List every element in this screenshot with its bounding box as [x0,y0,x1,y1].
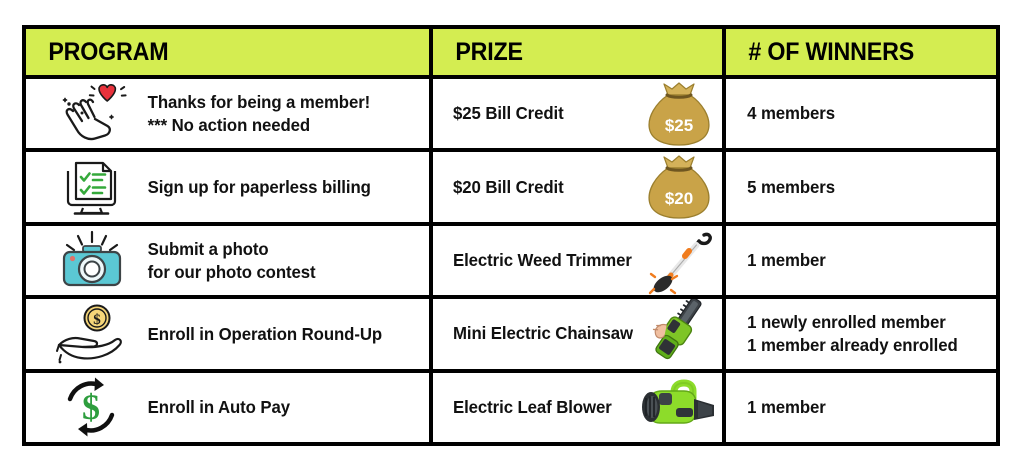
program-label-line2: for our photo contest [148,261,316,283]
program-label-line1: Enroll in Auto Pay [148,397,290,417]
winners-label: 1 member [726,396,826,419]
program-cell: $ Enroll in Operation Round-Up [26,299,433,368]
program-cell: Thanks for being a member! *** No action… [26,79,433,148]
program-label: Submit a photo for our photo contest [140,238,316,283]
winners-label-line1: 1 newly enrolled member [747,312,946,332]
program-cell: Sign up for paperless billing [26,152,433,221]
winners-label-line1: 5 members [747,177,835,197]
winners-label-line1: 1 member [747,397,826,417]
header-cell-winners: # OF WINNERS [726,29,996,75]
prize-cell: $20 Bill Credit $20 [433,152,726,221]
winners-cell: 4 members [726,79,996,148]
paperless-billing-monitor-icon [44,156,140,218]
header-label-program: PROGRAM [26,40,168,65]
program-label: Enroll in Auto Pay [140,396,290,418]
table-row: $ Enroll in Operation Round-Up Mini Elec… [26,299,996,372]
table-header-row: PROGRAM PRIZE # OF WINNERS [26,29,996,79]
program-label-line2: *** No action needed [148,114,370,136]
money-bag-icon: $25 [642,79,716,148]
header-label-prize: PRIZE [433,40,523,65]
auto-pay-dollar-refresh-icon: $ [44,376,140,438]
prize-label: $25 Bill Credit [453,103,564,124]
winners-label: 4 members [726,102,835,125]
prize-cell: Electric Weed Trimmer [433,226,726,295]
header-cell-program: PROGRAM [26,29,433,75]
program-label-line1: Submit a photo [148,239,269,259]
leaf-blower-icon [630,373,716,442]
clapping-hands-heart-icon [44,83,140,145]
table-row: $ Enroll in Auto Pay Electric Leaf Blowe… [26,373,996,442]
svg-text:$: $ [93,312,101,328]
program-label: Enroll in Operation Round-Up [140,323,382,345]
winners-cell: 5 members [726,152,996,221]
hand-with-coin-icon: $ [44,303,140,365]
prize-cell: $25 Bill Credit $25 [433,79,726,148]
prize-label: Mini Electric Chainsaw [453,323,633,344]
program-cell: $ Enroll in Auto Pay [26,373,433,442]
program-label: Sign up for paperless billing [140,176,371,198]
prize-cell: Mini Electric Chainsaw [433,299,726,368]
winners-label: 1 newly enrolled member 1 member already… [726,311,958,357]
program-label-line1: Thanks for being a member! [148,92,370,112]
winners-label-line2: 1 member already enrolled [747,334,958,357]
camera-icon [44,230,140,292]
winners-label-line1: 4 members [747,103,835,123]
program-label-line1: Enroll in Operation Round-Up [148,324,382,344]
program-label-line1: Sign up for paperless billing [148,177,371,197]
winners-label: 5 members [726,176,835,199]
prize-label: Electric Leaf Blower [453,397,612,418]
svg-text:$: $ [82,387,100,427]
weed-trimmer-icon [644,226,716,295]
header-cell-prize: PRIZE [433,29,726,75]
prize-program-table: PROGRAM PRIZE # OF WINNERS [22,25,1000,446]
winners-cell: 1 member [726,226,996,295]
table-row: Sign up for paperless billing $20 Bill C… [26,152,996,225]
winners-cell: 1 member [726,373,996,442]
winners-label: 1 member [726,249,826,272]
money-bag-icon: $20 [642,152,716,221]
svg-text:$25: $25 [665,116,693,135]
table-row: Thanks for being a member! *** No action… [26,79,996,152]
header-label-winners: # OF WINNERS [726,40,914,65]
program-cell: Submit a photo for our photo contest [26,226,433,295]
svg-text:$20: $20 [665,189,693,208]
prize-cell: Electric Leaf Blower [433,373,726,442]
table-row: Submit a photo for our photo contest Ele… [26,226,996,299]
program-label: Thanks for being a member! *** No action… [140,91,370,136]
prize-label: $20 Bill Credit [453,177,564,198]
mini-chainsaw-icon [644,299,716,368]
winners-cell: 1 newly enrolled member 1 member already… [726,299,996,368]
winners-label-line1: 1 member [747,250,826,270]
prize-label: Electric Weed Trimmer [453,250,632,271]
